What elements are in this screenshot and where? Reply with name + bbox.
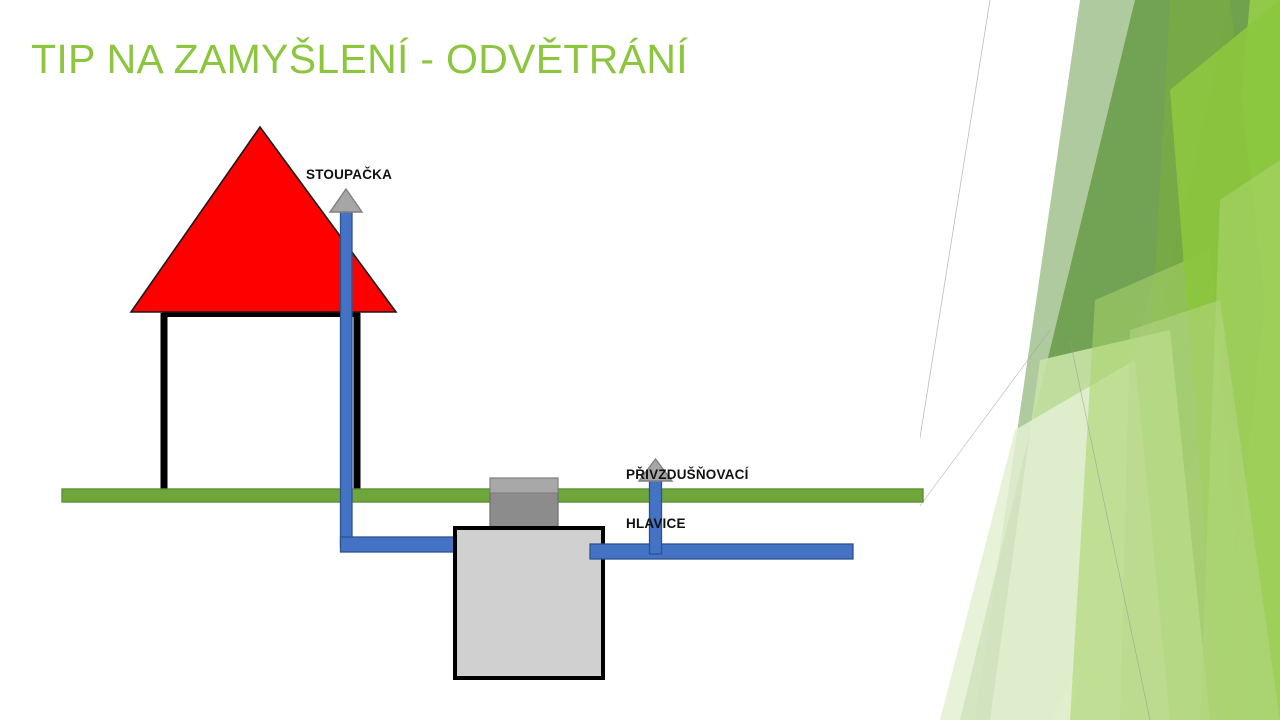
slide: TIP NA ZAMYŠLENÍ - ODVĚTRÁNÍ: [0, 0, 1280, 720]
tank-manhole-neck: [490, 492, 558, 529]
septic-tank: [455, 528, 603, 678]
label-vent-line2: HLAVICE: [626, 516, 749, 532]
label-privzdusnovaci-hlavice: PŘIVZDUŠŇOVACÍ HLAVICE: [626, 434, 749, 566]
label-vent-line1: PŘIVZDUŠŇOVACÍ: [626, 467, 749, 483]
ventilation-schematic: [0, 0, 1280, 720]
label-stoupacka: STOUPAČKA: [306, 167, 392, 183]
vertical-riser-pipe: [341, 205, 353, 547]
tank-manhole-lid: [490, 478, 558, 493]
house-walls: [162, 313, 360, 496]
riser-cap-triangle: [330, 189, 362, 212]
inlet-pipe-to-tank: [341, 537, 459, 552]
red-gable-roof: [131, 127, 396, 312]
